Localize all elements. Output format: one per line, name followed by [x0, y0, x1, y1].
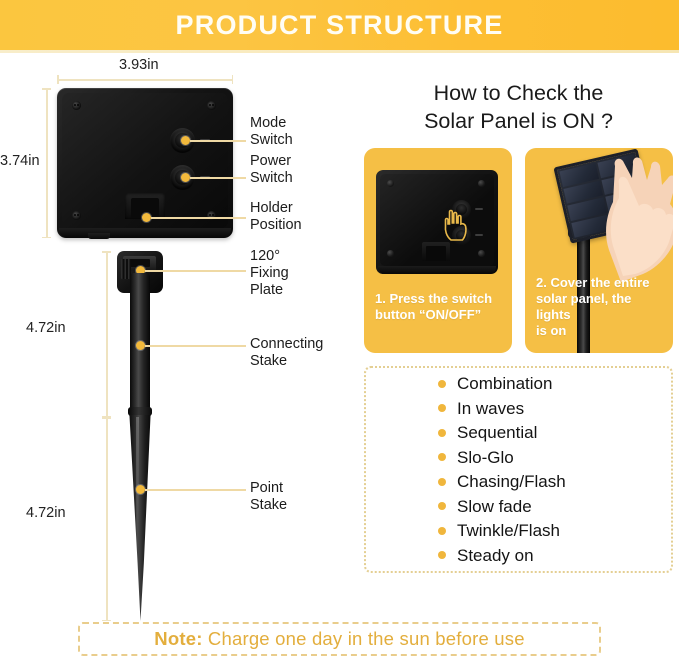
point-stake-callout-dot [136, 485, 145, 494]
card1-screw-bottom-right [478, 250, 485, 257]
mode-label: Twinkle/Flash [457, 522, 560, 539]
note-prefix: Note: [154, 628, 202, 649]
covering-hand-illustration [599, 154, 673, 282]
bullet-icon [438, 527, 446, 535]
instruction-card-cover-panel[interactable]: 2. Cover the entire solar panel, the lig… [525, 148, 673, 353]
bullet-icon [438, 404, 446, 412]
list-item: Slow fade [438, 494, 671, 519]
mode-label: Sequential [457, 424, 537, 441]
mode-label: Slow fade [457, 498, 532, 515]
mode-label: Steady on [457, 547, 534, 564]
callout-holder-position: Holder Position [250, 200, 302, 234]
callout-connecting-stake: Connecting Stake [250, 336, 323, 370]
card1-panel-lip [378, 266, 496, 274]
screw-bottom-left [72, 211, 81, 220]
mode-label: Slo-Glo [457, 449, 514, 466]
width-dimension-tick-left [57, 75, 59, 84]
mode-switch-callout-line [190, 140, 246, 142]
list-item: Twinkle/Flash [438, 519, 671, 544]
connecting-stake-callout-dot [136, 341, 145, 350]
card1-screw-bottom-left [387, 250, 394, 257]
connecting-stake-dimension-label: 4.72in [26, 320, 66, 336]
card1-mode-marking [475, 208, 483, 210]
height-dimension-tick-bottom [42, 237, 51, 239]
card2-caption: 2. Cover the entire solar panel, the lig… [536, 275, 666, 339]
point-stake-tick-bottom [102, 620, 111, 622]
height-dimension-line [46, 88, 48, 238]
bullet-icon [438, 551, 446, 559]
point-stake-spike [128, 415, 152, 621]
connecting-stake-dimension-line [106, 251, 108, 417]
mode-label: Chasing/Flash [457, 473, 566, 490]
point-stake-callout-line [145, 489, 246, 491]
screw-top-right [207, 101, 216, 110]
list-item: Chasing/Flash [438, 470, 671, 495]
card1-screw-top-left [387, 180, 394, 187]
point-stake-dimension-line [106, 417, 108, 621]
how-to-check-section: How to Check the Solar Panel is ON ? [358, 58, 679, 573]
lighting-modes-list: Combination In waves Sequential Slo-Glo … [364, 366, 673, 573]
mode-label: Combination [457, 375, 552, 392]
note-banner: Note: Charge one day in the sun before u… [78, 622, 601, 656]
point-stake-dimension-label: 4.72in [26, 505, 66, 521]
card1-power-marking [475, 234, 483, 236]
page-title: PRODUCT STRUCTURE [176, 12, 504, 39]
holder-position-callout-dot [142, 213, 151, 222]
stake-joint [128, 407, 152, 416]
connecting-stake-tick-top [102, 251, 111, 253]
pointing-hand-icon [442, 207, 470, 246]
header-banner: PRODUCT STRUCTURE [0, 0, 679, 50]
bullet-icon [438, 478, 446, 486]
product-diagram: 3.93in 3.74in Mode Switch Power Switc [0, 55, 355, 610]
width-dimension-tick-right [232, 75, 234, 84]
screw-bottom-right [207, 211, 216, 220]
callout-point-stake: Point Stake [250, 480, 287, 514]
note-body: Charge one day in the sun before use [203, 628, 525, 649]
card1-caption: 1. Press the switch button “ON/OFF” [375, 291, 505, 323]
bullet-icon [438, 453, 446, 461]
point-stake-tick-top [102, 417, 111, 419]
housing-bottom-lip [59, 228, 231, 238]
note-text: Note: Charge one day in the sun before u… [154, 628, 524, 650]
height-dimension-label: 3.74in [0, 153, 40, 169]
list-item: Sequential [438, 421, 671, 446]
mode-label: In waves [457, 400, 524, 417]
callout-fixing-plate: 120° Fixing Plate [250, 248, 289, 298]
holder-position-callout-line [151, 217, 246, 219]
power-switch-callout-line [190, 177, 246, 179]
list-item: Combination [438, 372, 671, 397]
bullet-icon [438, 502, 446, 510]
product-structure-infographic: PRODUCT STRUCTURE 3.93in 3.74in [0, 0, 679, 665]
power-switch-callout-dot [181, 173, 190, 182]
fixing-plate-callout-line [145, 270, 246, 272]
card1-screw-top-right [478, 180, 485, 187]
connecting-stake-callout-line [145, 345, 246, 347]
height-dimension-tick-top [42, 88, 51, 90]
width-dimension-line [57, 79, 233, 81]
instruction-cards: 1. Press the switch button “ON/OFF” [358, 148, 679, 353]
header-underline [0, 50, 679, 53]
instruction-card-press-switch[interactable]: 1. Press the switch button “ON/OFF” [364, 148, 512, 353]
how-to-check-title: How to Check the Solar Panel is ON ? [358, 58, 679, 148]
bullet-icon [438, 429, 446, 437]
list-item: Steady on [438, 543, 671, 568]
mode-switch-callout-dot [181, 136, 190, 145]
holder-tab [88, 233, 110, 239]
card1-panel-back [376, 170, 498, 274]
callout-power-switch: Power Switch [250, 153, 293, 187]
callout-mode-switch: Mode Switch [250, 115, 293, 149]
screw-top-left [72, 101, 81, 110]
list-item: In waves [438, 396, 671, 421]
list-item: Slo-Glo [438, 445, 671, 470]
bullet-icon [438, 380, 446, 388]
width-dimension-label: 3.93in [119, 57, 159, 73]
